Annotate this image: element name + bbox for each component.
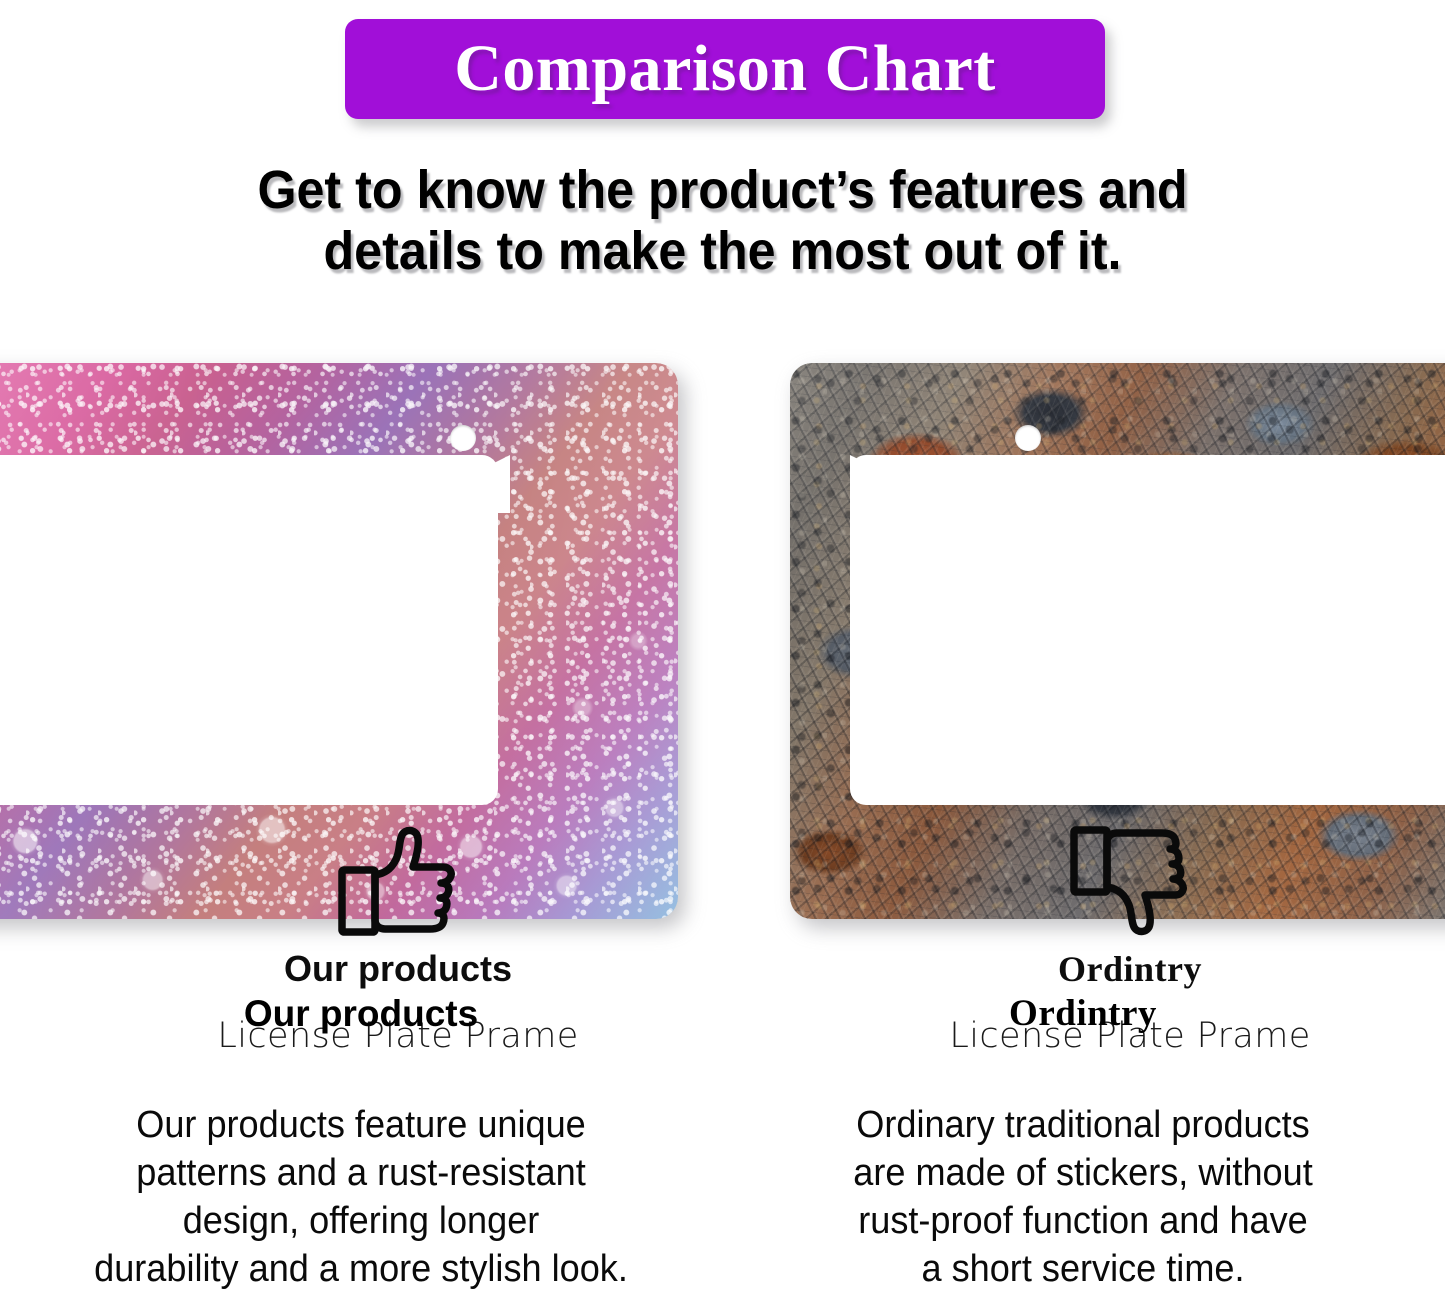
subtitle-line-1: Get to know the product’s features and xyxy=(51,160,1395,221)
subtitle: Get to know the product’s features and d… xyxy=(51,160,1395,282)
our-product-heading: Our products xyxy=(32,995,690,1032)
product-frames-row: Our products License Plate Prame Ordintr… xyxy=(0,355,1445,925)
page-title: Comparison Chart xyxy=(454,36,996,102)
description-line: a short service time. xyxy=(770,1246,1395,1294)
comparison-chart-banner: Comparison Chart xyxy=(345,19,1105,119)
ordinary-product-license-plate-frame xyxy=(790,363,1445,919)
description-line: Ordinary traditional products xyxy=(770,1102,1395,1150)
our-product-description-column: Our products Our products feature unique… xyxy=(0,995,722,1314)
description-line: durability and a more stylish look. xyxy=(48,1246,673,1294)
description-line: patterns and a rust-resistant xyxy=(48,1150,673,1198)
mounting-hole xyxy=(450,425,476,451)
mounting-hole xyxy=(1015,425,1041,451)
our-product-card-title: Our products xyxy=(118,951,678,987)
ordinary-product-description-column: Ordintry Ordinary traditional products a… xyxy=(722,995,1444,1314)
our-product-license-plate-frame xyxy=(0,363,678,919)
description-line: design, offering longer xyxy=(48,1198,673,1246)
description-line: are made of stickers, without xyxy=(770,1150,1395,1198)
description-row: Our products Our products feature unique… xyxy=(0,995,1445,1314)
subtitle-line-2: details to make the most out of it. xyxy=(51,221,1395,282)
description-line: Our products feature unique xyxy=(48,1102,673,1150)
ordinary-product-description: Ordinary traditional products are made o… xyxy=(770,1102,1395,1294)
ordinary-product-heading: Ordintry xyxy=(754,995,1412,1032)
our-product-description: Our products feature unique patterns and… xyxy=(48,1102,673,1294)
ordinary-product-card-title: Ordintry xyxy=(850,951,1410,987)
description-line: rust-proof function and have xyxy=(770,1198,1395,1246)
